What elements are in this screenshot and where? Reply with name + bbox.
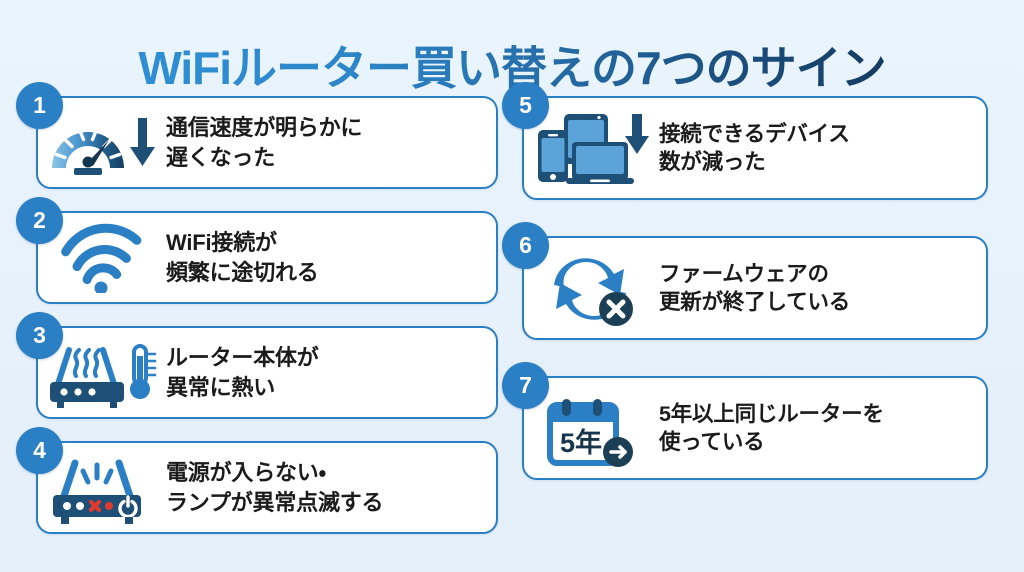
sign-text-7-line1: 5年以上同じルーターを <box>659 402 884 426</box>
sign-text-2: WiFi接続が 頻繁に途切れる <box>166 228 329 286</box>
sign-text-1-line1: 通信速度が明らかに <box>166 115 362 140</box>
sign-text-7-line2: 使っている <box>659 428 884 456</box>
number-badge-5: 5 <box>502 82 549 129</box>
number-badge-3: 3 <box>16 312 63 359</box>
sign-card-3[interactable]: 3 <box>36 326 498 419</box>
number-badge-2: 2 <box>16 197 63 244</box>
sign-text-3-line1: ルーター本体が <box>166 345 319 370</box>
sign-card-6[interactable]: 6 ファームウェアの 更新が終了している <box>522 236 988 340</box>
sign-text-6-line2: 更新が終了している <box>659 288 850 316</box>
sign-text-4-line1: 電源が入らない・ <box>166 460 326 485</box>
sign-text-4-line2: ランプが異常点滅する <box>166 488 383 517</box>
sign-text-6-line1: ファームウェアの <box>659 262 829 286</box>
sign-text-1: 通信速度が明らかに 遅くなった <box>166 113 372 171</box>
sign-card-1[interactable]: 1 <box>36 96 498 189</box>
number-badge-4: 4 <box>16 427 63 474</box>
left-column: 1 <box>36 96 498 534</box>
sign-text-3: ルーター本体が 異常に熱い <box>166 343 329 401</box>
sign-text-2-line2: 頻繁に途切れる <box>166 258 319 287</box>
number-badge-7: 7 <box>502 362 549 409</box>
sign-text-1-line2: 遅くなった <box>166 143 362 172</box>
sign-text-6: ファームウェアの 更新が終了している <box>659 260 860 317</box>
sign-card-7[interactable]: 7 5年 5年以上同じルーターを <box>522 376 988 480</box>
sign-text-3-line2: 異常に熱い <box>166 373 319 402</box>
sign-card-5[interactable]: 5 <box>522 96 988 200</box>
infographic-page: WiFiルーター買い替えの7つのサイン 1 <box>0 0 1024 572</box>
sign-card-4[interactable]: 4 <box>36 441 498 534</box>
number-badge-6: 6 <box>502 222 549 269</box>
sign-text-5-line2: 数が減った <box>659 148 850 176</box>
right-column: 5 <box>522 96 988 480</box>
page-title: WiFiルーター買い替えの7つのサイン <box>138 45 885 91</box>
sign-text-7: 5年以上同じルーターを 使っている <box>659 400 894 457</box>
calendar-year-label: 5年 <box>560 427 602 458</box>
sign-card-2[interactable]: 2 WiFi接続が 頻繁に途切れる <box>36 211 498 304</box>
sign-text-5-line1: 接続できるデバイス <box>659 122 850 146</box>
number-badge-1: 1 <box>16 82 63 129</box>
sign-text-4: 電源が入らない・ ランプが異常点滅する <box>166 458 393 516</box>
sign-text-2-line1: WiFi接続が <box>166 230 277 255</box>
sign-text-5: 接続できるデバイス 数が減った <box>659 120 860 177</box>
